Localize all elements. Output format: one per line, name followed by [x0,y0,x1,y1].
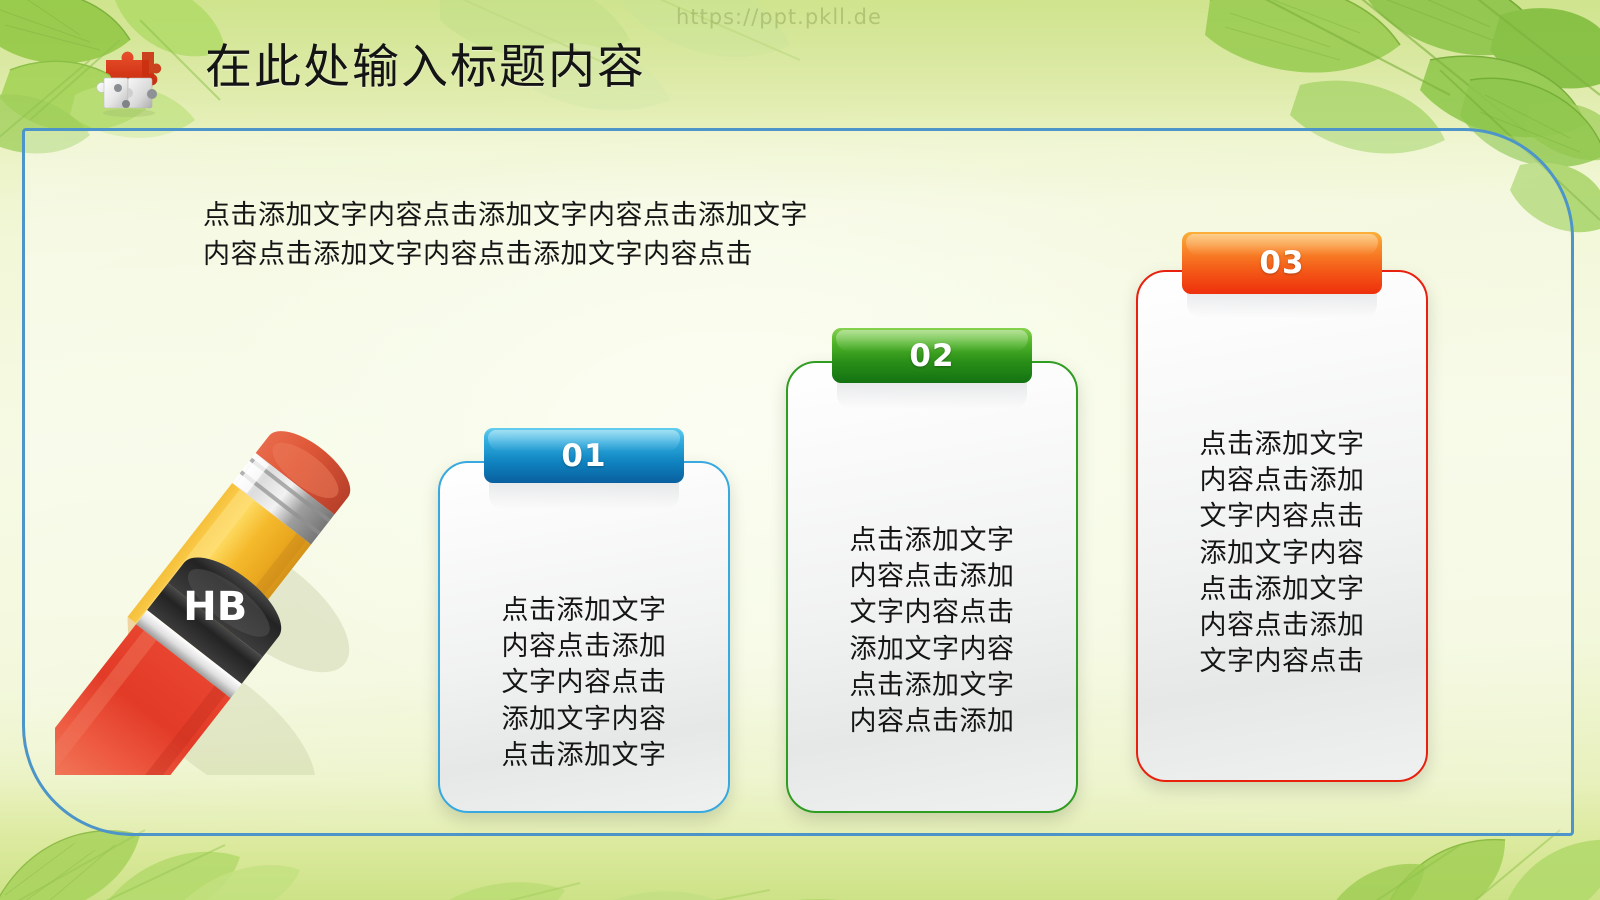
card-03-text: 点击添加文字内容点击添加文字内容点击添加文字内容点击添加文字内容点击添加文字内容… [1138,427,1426,680]
puzzle-piece-icon [86,38,172,124]
card-02-body: 点击添加文字内容点击添加文字内容点击添加文字内容点击添加文字内容点击添加 [786,361,1078,813]
card-01-text: 点击添加文字内容点击添加文字内容点击添加文字内容点击添加文字 [440,593,728,774]
card-03-number-tab[interactable]: 03 [1182,232,1382,294]
slide-canvas: https://ppt.pkll.de 在此处输入标题内容 点击添加文字内容点击… [0,0,1600,900]
card-02-text: 点击添加文字内容点击添加文字内容点击添加文字内容点击添加文字内容点击添加 [788,523,1076,740]
card-01-number-tab[interactable]: 01 [484,428,684,483]
card-01-body: 点击添加文字内容点击添加文字内容点击添加文字内容点击添加文字 [438,461,730,813]
svg-text:HB: HB [183,584,247,630]
page-title: 在此处输入标题内容 [205,40,646,96]
card-03-body: 点击添加文字内容点击添加文字内容点击添加文字内容点击添加文字内容点击添加文字内容… [1136,270,1428,782]
watermark-url: https://ppt.pkll.de [676,5,882,29]
pencils-illustration: HB [55,345,415,775]
card-02-number-tab[interactable]: 02 [832,328,1032,383]
intro-paragraph: 点击添加文字内容点击添加文字内容点击添加文字内容点击添加文字内容点击添加文字内容… [203,196,963,275]
